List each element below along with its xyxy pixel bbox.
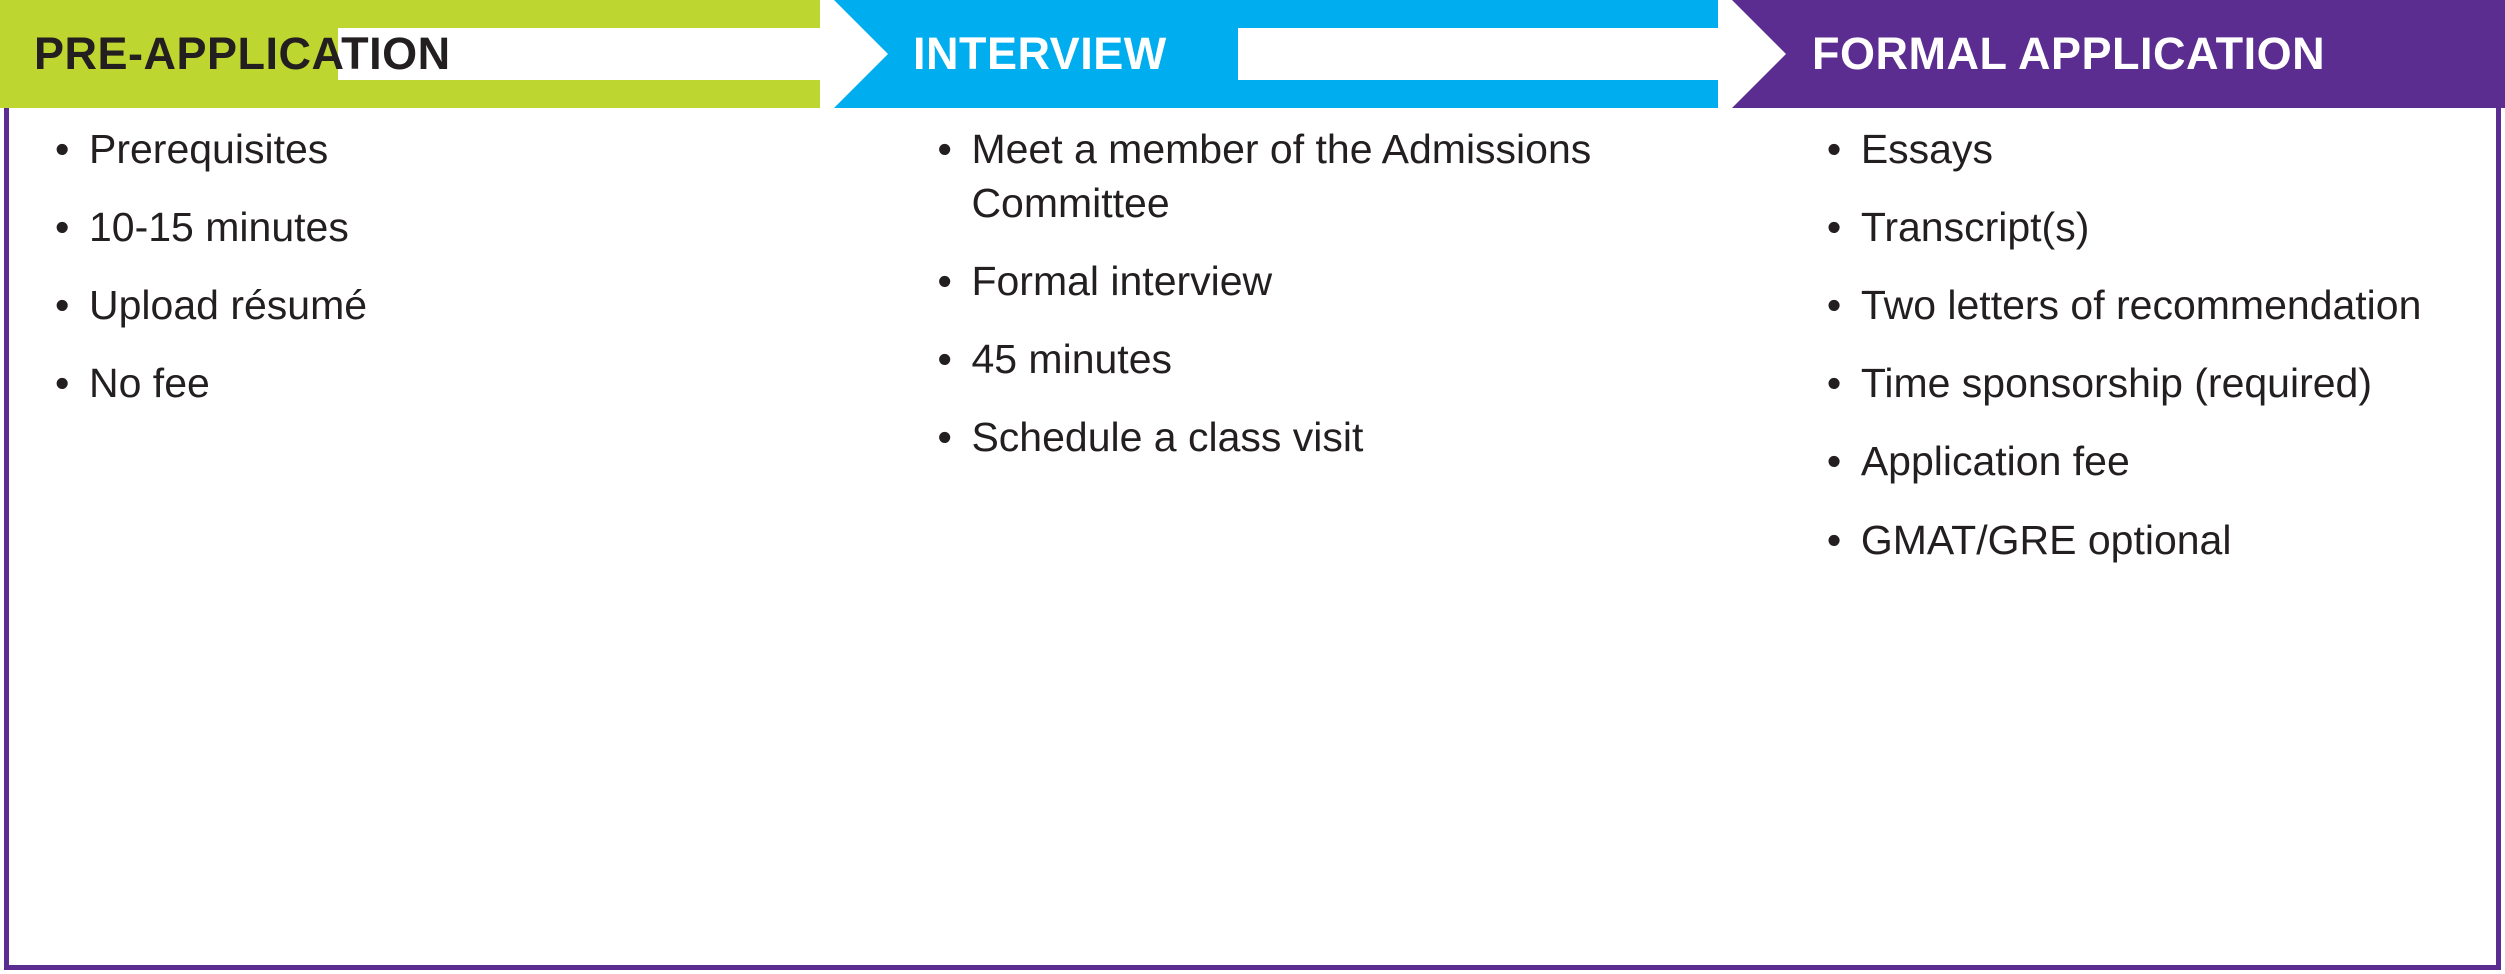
bullet-dot-icon: • (937, 410, 951, 464)
bullet-dot-icon: • (1827, 122, 1841, 176)
list-item-label: 45 minutes (971, 332, 1786, 386)
list-item: • Formal interview (931, 254, 1786, 308)
stage-3-chevron-shape (1732, 0, 2505, 108)
list-item-label: Upload résumé (89, 278, 890, 332)
list-item: • Time sponsorship (required) (1821, 356, 2486, 410)
list-item-label: Time sponsorship (required) (1861, 356, 2486, 410)
list-item: • Application fee (1821, 434, 2486, 488)
list-item-label: Meet a member of the Admissions Committe… (971, 122, 1786, 230)
chevron-band-graphic (0, 0, 2505, 108)
bullet-dot-icon: • (1827, 356, 1841, 410)
process-flow-diagram: PRE-APPLICATION INTERVIEW FORMAL APPLICA… (0, 0, 2505, 974)
bullet-list-formal-application: • Essays • Transcript(s) • Two letters o… (1821, 122, 2486, 567)
list-item-label: Two letters of recommendation (1861, 278, 2486, 332)
bullet-dot-icon: • (55, 356, 69, 410)
list-item: • Schedule a class visit (931, 410, 1786, 464)
stage-header-band: PRE-APPLICATION INTERVIEW FORMAL APPLICA… (0, 0, 2505, 108)
list-item: • Upload résumé (49, 278, 890, 332)
bullet-dot-icon: • (937, 254, 951, 308)
stage-column-formal-application: • Essays • Transcript(s) • Two letters o… (1807, 108, 2496, 965)
bullet-list-interview: • Meet a member of the Admissions Commit… (931, 122, 1786, 465)
bullet-dot-icon: • (937, 122, 951, 176)
list-item-label: GMAT/GRE optional (1861, 513, 2486, 567)
list-item-label: Prerequisites (89, 122, 890, 176)
list-item: • Meet a member of the Admissions Commit… (931, 122, 1786, 230)
list-item-label: 10-15 minutes (89, 200, 890, 254)
list-item: • 45 minutes (931, 332, 1786, 386)
bullet-dot-icon: • (1827, 434, 1841, 488)
bullet-list-pre-application: • Prerequisites • 10-15 minutes • Upload… (49, 122, 890, 410)
bullet-dot-icon: • (1827, 278, 1841, 332)
list-item: • Two letters of recommendation (1821, 278, 2486, 332)
stage-2-chevron-shape (834, 0, 1718, 108)
bullet-dot-icon: • (1827, 513, 1841, 567)
stage-content-panel: • Prerequisites • 10-15 minutes • Upload… (4, 108, 2501, 970)
stage-1-chevron-shape (0, 0, 820, 108)
list-item: • Prerequisites (49, 122, 890, 176)
list-item-label: Essays (1861, 122, 2486, 176)
bullet-dot-icon: • (55, 278, 69, 332)
list-item: • Transcript(s) (1821, 200, 2486, 254)
stage-column-interview: • Meet a member of the Admissions Commit… (910, 108, 1806, 965)
stage-column-pre-application: • Prerequisites • 10-15 minutes • Upload… (9, 108, 910, 965)
list-item-label: Application fee (1861, 434, 2486, 488)
list-item: • Essays (1821, 122, 2486, 176)
list-item: • No fee (49, 356, 890, 410)
bullet-dot-icon: • (55, 200, 69, 254)
list-item-label: No fee (89, 356, 890, 410)
list-item-label: Transcript(s) (1861, 200, 2486, 254)
list-item-label: Schedule a class visit (971, 410, 1786, 464)
list-item-label: Formal interview (971, 254, 1786, 308)
bullet-dot-icon: • (937, 332, 951, 386)
stage-columns: • Prerequisites • 10-15 minutes • Upload… (9, 108, 2496, 965)
list-item: • GMAT/GRE optional (1821, 513, 2486, 567)
bullet-dot-icon: • (1827, 200, 1841, 254)
bullet-dot-icon: • (55, 122, 69, 176)
list-item: • 10-15 minutes (49, 200, 890, 254)
